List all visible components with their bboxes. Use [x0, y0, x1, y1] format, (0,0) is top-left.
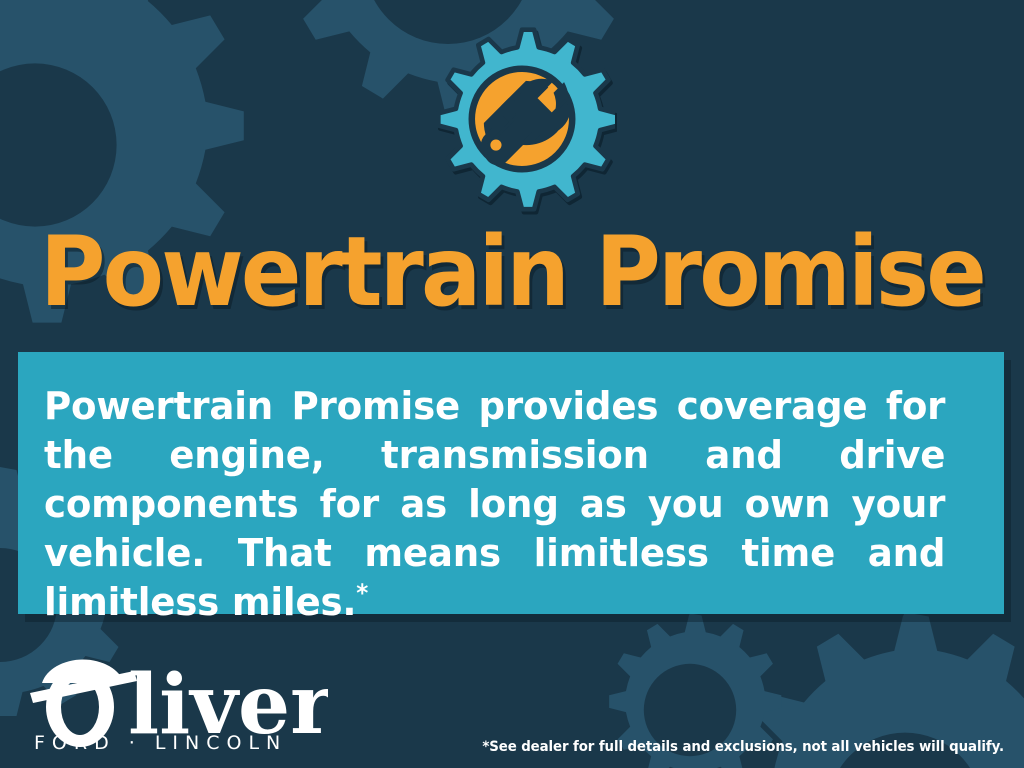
- description-text: Powertrain Promise provides coverage for…: [44, 382, 945, 627]
- page-title: Powertrain Promise: [36, 222, 988, 322]
- disclaimer-text: *See dealer for full details and exclusi…: [482, 738, 1004, 756]
- footnote-marker: *: [356, 579, 368, 607]
- dealer-logo: liver FORD · LINCOLN: [28, 641, 328, 753]
- dealer-logo-subtitle: FORD · LINCOLN: [34, 732, 287, 753]
- gear-wrench-icon: [429, 26, 615, 212]
- description-panel: Powertrain Promise provides coverage for…: [18, 352, 1004, 614]
- description-body: Powertrain Promise provides coverage for…: [44, 384, 945, 625]
- powertrain-promise-poster: Powertrain Promise Powertrain Promise pr…: [0, 0, 1024, 768]
